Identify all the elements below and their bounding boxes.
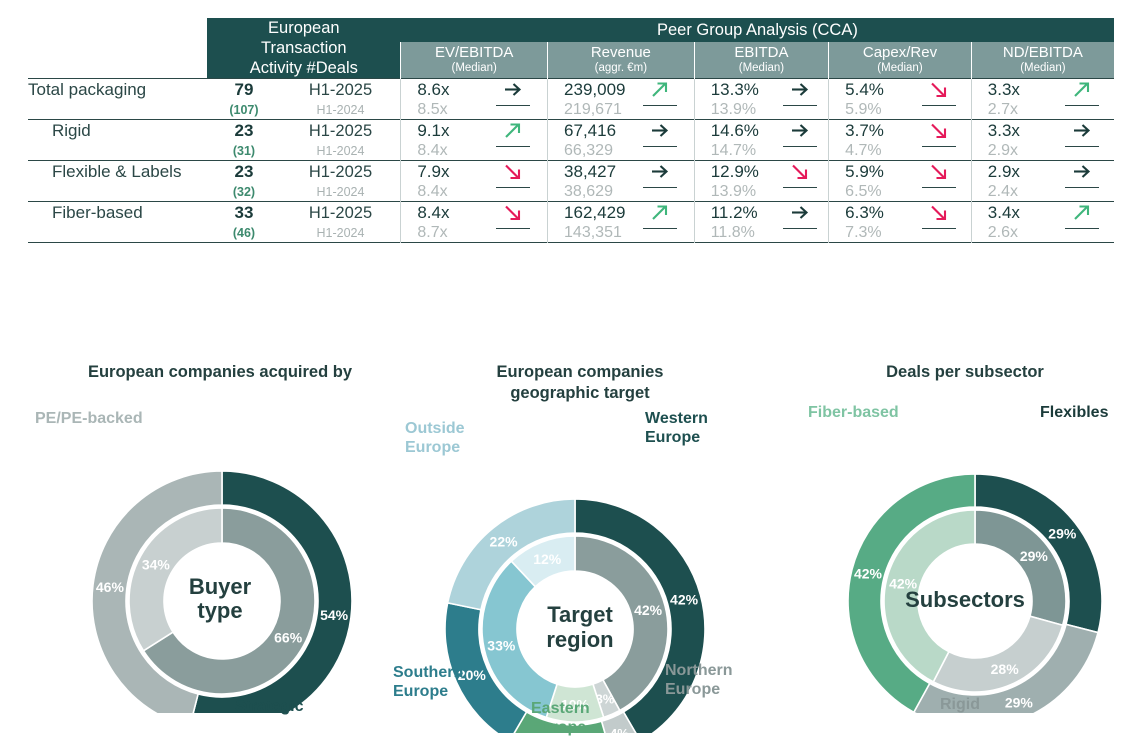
table-body: Total packaging79H1-20258.6x239,00913.3%… xyxy=(28,79,1114,244)
metric-trend-spacer xyxy=(907,224,971,242)
donut-slice-percent: 46% xyxy=(96,578,125,594)
column-header-name: ND/EBITDA xyxy=(1003,44,1083,61)
metric-value-previous: 5.9% xyxy=(845,101,907,119)
metric-value-previous: 2.9x xyxy=(988,142,1050,160)
column-header-name: Revenue xyxy=(591,44,651,61)
metric-trend-spacer xyxy=(626,183,694,201)
metric-value-current: 8.6x xyxy=(417,80,479,100)
trend-flat-arrow-icon xyxy=(790,79,810,100)
donut-external-label: Flexibles xyxy=(1040,404,1108,423)
metric-cell-current: 8.6x xyxy=(401,79,548,101)
donut-svg: 29%29%42%29%28%42% xyxy=(800,383,1130,713)
donut-external-label-line: Outside xyxy=(405,420,465,439)
donut-chart-3: Deals per subsector29%29%42%29%28%42%Sub… xyxy=(800,362,1130,718)
donut-slice-percent: 28% xyxy=(991,660,1020,676)
donut-external-label: Rigid xyxy=(940,696,980,715)
metric-cell-current: 3.7% xyxy=(829,120,972,142)
column-header-sub: (Median) xyxy=(695,62,828,75)
row-category-label: Rigid xyxy=(28,120,207,142)
trend-flat-arrow-icon xyxy=(650,161,670,182)
metric-value-previous: 4.7% xyxy=(845,142,907,160)
metric-cell-previous: 219,671 xyxy=(548,101,695,120)
metric-trend xyxy=(1050,202,1114,224)
metric-value-current: 13.3% xyxy=(711,80,773,100)
metric-trend xyxy=(773,120,828,142)
metric-cell-current: 12.9% xyxy=(694,161,828,183)
row-deals-previous: (32) xyxy=(207,183,280,202)
row-category-label: Fiber-based xyxy=(28,202,207,224)
metric-cell-current: 67,416 xyxy=(548,120,695,142)
donut-external-label-line: Rigid xyxy=(940,696,980,715)
row-deals-current: 33 xyxy=(207,202,280,224)
donut-chart-title: European companiesgeographic target xyxy=(415,362,745,403)
metric-trend xyxy=(907,202,971,224)
metric-value-previous: 2.4x xyxy=(988,183,1050,201)
metric-value-previous: 8.7x xyxy=(417,224,479,242)
donut-svg-wrap: 54%46%66%34%Buyertype xyxy=(55,383,385,718)
table-row: Total packaging79H1-20258.6x239,00913.3%… xyxy=(28,79,1114,101)
metric-cell-previous: 14.7% xyxy=(694,142,828,161)
metric-trend xyxy=(773,161,828,183)
metric-value-current: 2.9x xyxy=(988,162,1050,182)
metric-value-previous: 6.5% xyxy=(845,183,907,201)
table-row-previous: (31)H1-20248.4x66,32914.7%4.7%2.9x xyxy=(28,142,1114,161)
table-row: Flexible & Labels23H1-20257.9x38,42712.9… xyxy=(28,161,1114,183)
trend-up-arrow-icon xyxy=(1072,79,1092,100)
metric-value-current: 14.6% xyxy=(711,121,773,141)
metric-cell-previous: 38,629 xyxy=(548,183,695,202)
donut-external-label: Fiber-based xyxy=(808,404,899,423)
metric-cell-previous: 6.5% xyxy=(829,183,972,202)
donut-slice-percent: 42% xyxy=(634,602,663,618)
metric-cell-current: 14.6% xyxy=(694,120,828,142)
trend-up-arrow-icon xyxy=(650,79,670,100)
metric-cell-previous: 8.4x xyxy=(401,183,548,202)
metric-value-previous: 13.9% xyxy=(711,101,773,119)
metric-cell-previous: 2.7x xyxy=(971,101,1114,120)
metric-trend-spacer xyxy=(479,101,547,119)
donut-slice-percent: 4% xyxy=(610,726,629,733)
metric-trend-spacer xyxy=(479,224,547,242)
donut-slice-percent: 66% xyxy=(274,629,303,645)
metric-trend-spacer xyxy=(907,101,971,119)
header-left-title: European Transaction Activity #Deals xyxy=(207,18,401,79)
header-spacer xyxy=(28,18,207,42)
metric-cell-current: 8.4x xyxy=(401,202,548,224)
metric-trend-spacer xyxy=(773,142,828,160)
metric-value-previous: 143,351 xyxy=(564,224,626,242)
metric-cell-previous: 8.7x xyxy=(401,224,548,243)
donut-external-label-line: Eastern xyxy=(531,700,590,719)
metric-cell-previous: 8.4x xyxy=(401,142,548,161)
trend-up-arrow-icon xyxy=(1072,202,1092,223)
metric-cell-previous: 8.5x xyxy=(401,101,548,120)
table-row: Rigid23H1-20259.1x67,41614.6%3.7%3.3x xyxy=(28,120,1114,142)
metric-value-current: 5.9% xyxy=(845,162,907,182)
metric-value-current: 11.2% xyxy=(711,203,773,223)
donut-external-label-line: Strategic xyxy=(235,698,303,717)
row-deals-previous: (31) xyxy=(207,142,280,161)
metric-value-previous: 2.7x xyxy=(988,101,1050,119)
donut-external-label-line: Europe xyxy=(531,719,590,738)
column-header-revenue: Revenue (aggr. €m) xyxy=(548,42,695,79)
donut-slice-percent: 42% xyxy=(889,575,918,591)
row-category-label: Total packaging xyxy=(28,79,207,101)
metric-cell-previous: 5.9% xyxy=(829,101,972,120)
donut-external-label-line: Europe xyxy=(665,681,733,700)
row-category-blank xyxy=(28,183,207,202)
metric-value-previous: 38,629 xyxy=(564,183,626,201)
metric-value-previous: 13.9% xyxy=(711,183,773,201)
metric-cell-current: 239,009 xyxy=(548,79,695,101)
header-group-title: Peer Group Analysis (CCA) xyxy=(401,18,1114,42)
metric-value-current: 7.9x xyxy=(417,162,479,182)
metric-cell-previous: 143,351 xyxy=(548,224,695,243)
donut-external-label-line: Europe xyxy=(393,683,463,702)
donut-slice-percent: 29% xyxy=(1005,694,1034,710)
metric-value-current: 3.3x xyxy=(988,80,1050,100)
metric-value-current: 3.7% xyxy=(845,121,907,141)
metric-value-current: 38,427 xyxy=(564,162,626,182)
trend-down-arrow-icon xyxy=(929,161,949,182)
table-row-previous: (46)H1-20248.7x143,35111.8%7.3%2.6x xyxy=(28,224,1114,243)
trend-up-arrow-icon xyxy=(650,202,670,223)
metric-value-current: 67,416 xyxy=(564,121,626,141)
metric-value-current: 3.3x xyxy=(988,121,1050,141)
metric-trend xyxy=(479,120,547,142)
row-period-previous: H1-2024 xyxy=(281,224,401,243)
donut-external-label: Strategic xyxy=(235,698,303,717)
metric-trend xyxy=(479,202,547,224)
row-period-current: H1-2025 xyxy=(281,202,401,224)
metric-trend xyxy=(1050,161,1114,183)
metric-trend-spacer xyxy=(907,142,971,160)
donut-external-label-line: PE/PE-backed xyxy=(35,410,143,429)
row-separator xyxy=(28,243,1114,244)
donut-external-label: SouthernEurope xyxy=(393,664,463,702)
column-header-name: EBITDA xyxy=(734,44,788,61)
metric-value-current: 162,429 xyxy=(564,203,626,223)
metric-cell-previous: 13.9% xyxy=(694,101,828,120)
trend-flat-arrow-icon xyxy=(790,202,810,223)
row-category-blank xyxy=(28,142,207,161)
metric-value-current: 8.4x xyxy=(417,203,479,223)
trend-down-arrow-icon xyxy=(790,161,810,182)
metric-trend xyxy=(479,79,547,101)
column-header-sub: (Median) xyxy=(972,62,1114,75)
metric-cell-previous: 4.7% xyxy=(829,142,972,161)
metric-trend xyxy=(626,79,694,101)
column-header-sub: (aggr. €m) xyxy=(548,62,694,75)
donut-slice-percent: 42% xyxy=(854,565,883,581)
header-left-line-3: Activity #Deals xyxy=(207,58,400,78)
row-period-previous: H1-2024 xyxy=(281,142,401,161)
metric-trend xyxy=(1050,79,1114,101)
metric-value-previous: 14.7% xyxy=(711,142,773,160)
metric-cell-previous: 2.9x xyxy=(971,142,1114,161)
metric-trend-spacer xyxy=(773,183,828,201)
trend-down-arrow-icon xyxy=(929,202,949,223)
trend-down-arrow-icon xyxy=(929,120,949,141)
row-period-previous: H1-2024 xyxy=(281,101,401,120)
row-period-current: H1-2025 xyxy=(281,79,401,101)
trend-flat-arrow-icon xyxy=(503,79,523,100)
donut-slice-percent: 12% xyxy=(533,551,562,567)
donut-slice-percent: 33% xyxy=(487,638,516,654)
donut-slice-percent: 34% xyxy=(142,556,171,572)
row-deals-previous: (107) xyxy=(207,101,280,120)
row-category-label: Flexible & Labels xyxy=(28,161,207,183)
donut-external-label-line: Western xyxy=(645,410,708,429)
metric-trend-spacer xyxy=(1050,101,1114,119)
metric-cell-current: 38,427 xyxy=(548,161,695,183)
metric-cell-current: 3.3x xyxy=(971,79,1114,101)
header-spacer-2 xyxy=(28,42,207,79)
donut-external-label-line: Europe xyxy=(405,439,465,458)
metric-trend-spacer xyxy=(479,142,547,160)
metric-value-previous: 8.4x xyxy=(417,183,479,201)
row-period-previous: H1-2024 xyxy=(281,183,401,202)
metric-trend xyxy=(626,120,694,142)
metric-value-current: 239,009 xyxy=(564,80,626,100)
metric-trend-spacer xyxy=(626,142,694,160)
metric-trend xyxy=(773,202,828,224)
row-deals-current: 23 xyxy=(207,120,280,142)
metric-cell-current: 7.9x xyxy=(401,161,548,183)
metric-trend xyxy=(479,161,547,183)
metric-trend-spacer xyxy=(1050,183,1114,201)
trend-flat-arrow-icon xyxy=(650,120,670,141)
donut-title-line: European companies xyxy=(415,362,745,383)
donut-slice-percent: 29% xyxy=(1020,548,1049,564)
metric-trend xyxy=(773,79,828,101)
metric-value-previous: 8.4x xyxy=(417,142,479,160)
transaction-activity-table: European Transaction Activity #Deals Pee… xyxy=(28,18,1114,243)
metric-cell-current: 3.3x xyxy=(971,120,1114,142)
table-row-previous: (32)H1-20248.4x38,62913.9%6.5%2.4x xyxy=(28,183,1114,202)
metric-cell-current: 162,429 xyxy=(548,202,695,224)
row-period-current: H1-2025 xyxy=(281,161,401,183)
metric-cell-current: 9.1x xyxy=(401,120,548,142)
row-deals-previous: (46) xyxy=(207,224,280,243)
metric-cell-previous: 7.3% xyxy=(829,224,972,243)
column-header-ev-ebitda: EV/EBITDA (Median) xyxy=(401,42,548,79)
metric-cell-previous: 13.9% xyxy=(694,183,828,202)
table-row-previous: (107)H1-20248.5x219,67113.9%5.9%2.7x xyxy=(28,101,1114,120)
metric-cell-previous: 2.4x xyxy=(971,183,1114,202)
donut-svg: 54%46%66%34% xyxy=(55,383,385,713)
metric-trend xyxy=(907,120,971,142)
donut-title-line: Deals per subsector xyxy=(800,362,1130,383)
metric-trend xyxy=(1050,120,1114,142)
header-left-line-1: European xyxy=(207,18,400,38)
metric-trend-spacer xyxy=(479,183,547,201)
metric-cell-current: 13.3% xyxy=(694,79,828,101)
metric-value-previous: 2.6x xyxy=(988,224,1050,242)
metric-value-current: 12.9% xyxy=(711,162,773,182)
metric-cell-previous: 11.8% xyxy=(694,224,828,243)
donut-title-line: European companies acquired by xyxy=(55,362,385,383)
donut-external-label: EasternEurope xyxy=(531,700,590,738)
metric-value-current: 5.4% xyxy=(845,80,907,100)
metric-value-previous: 219,671 xyxy=(564,101,626,119)
donut-external-label-line: Fiber-based xyxy=(808,404,899,423)
metric-trend xyxy=(626,161,694,183)
metric-cell-previous: 66,329 xyxy=(548,142,695,161)
trend-down-arrow-icon xyxy=(929,79,949,100)
metric-value-previous: 66,329 xyxy=(564,142,626,160)
header-left-line-2: Transaction xyxy=(207,38,400,58)
donut-chart-title: European companies acquired by xyxy=(55,362,385,383)
trend-flat-arrow-icon xyxy=(1072,161,1092,182)
metric-trend xyxy=(907,79,971,101)
column-header-nd-ebitda: ND/EBITDA (Median) xyxy=(971,42,1114,79)
trend-up-arrow-icon xyxy=(503,120,523,141)
metric-trend xyxy=(626,202,694,224)
metric-trend-spacer xyxy=(1050,224,1114,242)
metric-value-previous: 11.8% xyxy=(711,224,773,242)
metric-cell-current: 2.9x xyxy=(971,161,1114,183)
donut-slice-percent: 22% xyxy=(490,534,519,550)
donut-external-label-line: Flexibles xyxy=(1040,404,1108,423)
metric-cell-current: 5.9% xyxy=(829,161,972,183)
column-header-name: EV/EBITDA xyxy=(435,44,513,61)
metric-cell-current: 11.2% xyxy=(694,202,828,224)
column-header-ebitda: EBITDA (Median) xyxy=(694,42,828,79)
row-period-current: H1-2025 xyxy=(281,120,401,142)
donut-svg-wrap: 29%29%42%29%28%42%Subsectors xyxy=(800,383,1130,718)
metric-trend-spacer xyxy=(626,224,694,242)
donut-chart-title: Deals per subsector xyxy=(800,362,1130,383)
row-category-blank xyxy=(28,101,207,120)
donut-external-label: WesternEurope xyxy=(645,410,708,448)
donut-external-label: NorthernEurope xyxy=(665,662,733,700)
donut-title-line: geographic target xyxy=(415,383,745,404)
table-header-row-2: EV/EBITDA (Median) Revenue (aggr. €m) EB… xyxy=(28,42,1114,79)
column-header-name: Capex/Rev xyxy=(863,44,937,61)
donut-external-label: OutsideEurope xyxy=(405,420,465,458)
column-header-sub: (Median) xyxy=(401,62,547,75)
table-row: Fiber-based33H1-20258.4x162,42911.2%6.3%… xyxy=(28,202,1114,224)
column-header-capex-rev: Capex/Rev (Median) xyxy=(829,42,972,79)
metric-trend-spacer xyxy=(773,101,828,119)
donut-external-label: PE/PE-backed xyxy=(35,410,143,429)
metric-trend-spacer xyxy=(773,224,828,242)
row-deals-current: 23 xyxy=(207,161,280,183)
row-category-blank xyxy=(28,224,207,243)
trend-flat-arrow-icon xyxy=(790,120,810,141)
metric-trend-spacer xyxy=(626,101,694,119)
metric-trend xyxy=(907,161,971,183)
donut-chart-2: European companiesgeographic target42%4%… xyxy=(415,362,745,738)
trend-down-arrow-icon xyxy=(503,161,523,182)
donut-external-label-line: Europe xyxy=(645,429,708,448)
metric-value-current: 3.4x xyxy=(988,203,1050,223)
trend-flat-arrow-icon xyxy=(1072,120,1092,141)
donut-slice-percent: 54% xyxy=(320,607,349,623)
metric-cell-current: 3.4x xyxy=(971,202,1114,224)
donut-chart-1: European companies acquired by54%46%66%3… xyxy=(55,362,385,718)
table-header-row-1: European Transaction Activity #Deals Pee… xyxy=(28,18,1114,42)
donut-external-label-line: Southern xyxy=(393,664,463,683)
metric-value-current: 9.1x xyxy=(417,121,479,141)
donut-slice-percent: 29% xyxy=(1048,525,1077,541)
metric-cell-current: 5.4% xyxy=(829,79,972,101)
metric-trend-spacer xyxy=(907,183,971,201)
donut-external-label-line: Northern xyxy=(665,662,733,681)
row-deals-current: 79 xyxy=(207,79,280,101)
metric-value-previous: 8.5x xyxy=(417,101,479,119)
trend-down-arrow-icon xyxy=(503,202,523,223)
metric-cell-previous: 2.6x xyxy=(971,224,1114,243)
metric-value-current: 6.3% xyxy=(845,203,907,223)
peer-group-table-region: European Transaction Activity #Deals Pee… xyxy=(0,0,1131,345)
metric-cell-current: 6.3% xyxy=(829,202,972,224)
donut-slice-percent: 42% xyxy=(670,592,699,608)
column-header-sub: (Median) xyxy=(829,62,971,75)
metric-value-previous: 7.3% xyxy=(845,224,907,242)
metric-trend-spacer xyxy=(1050,142,1114,160)
